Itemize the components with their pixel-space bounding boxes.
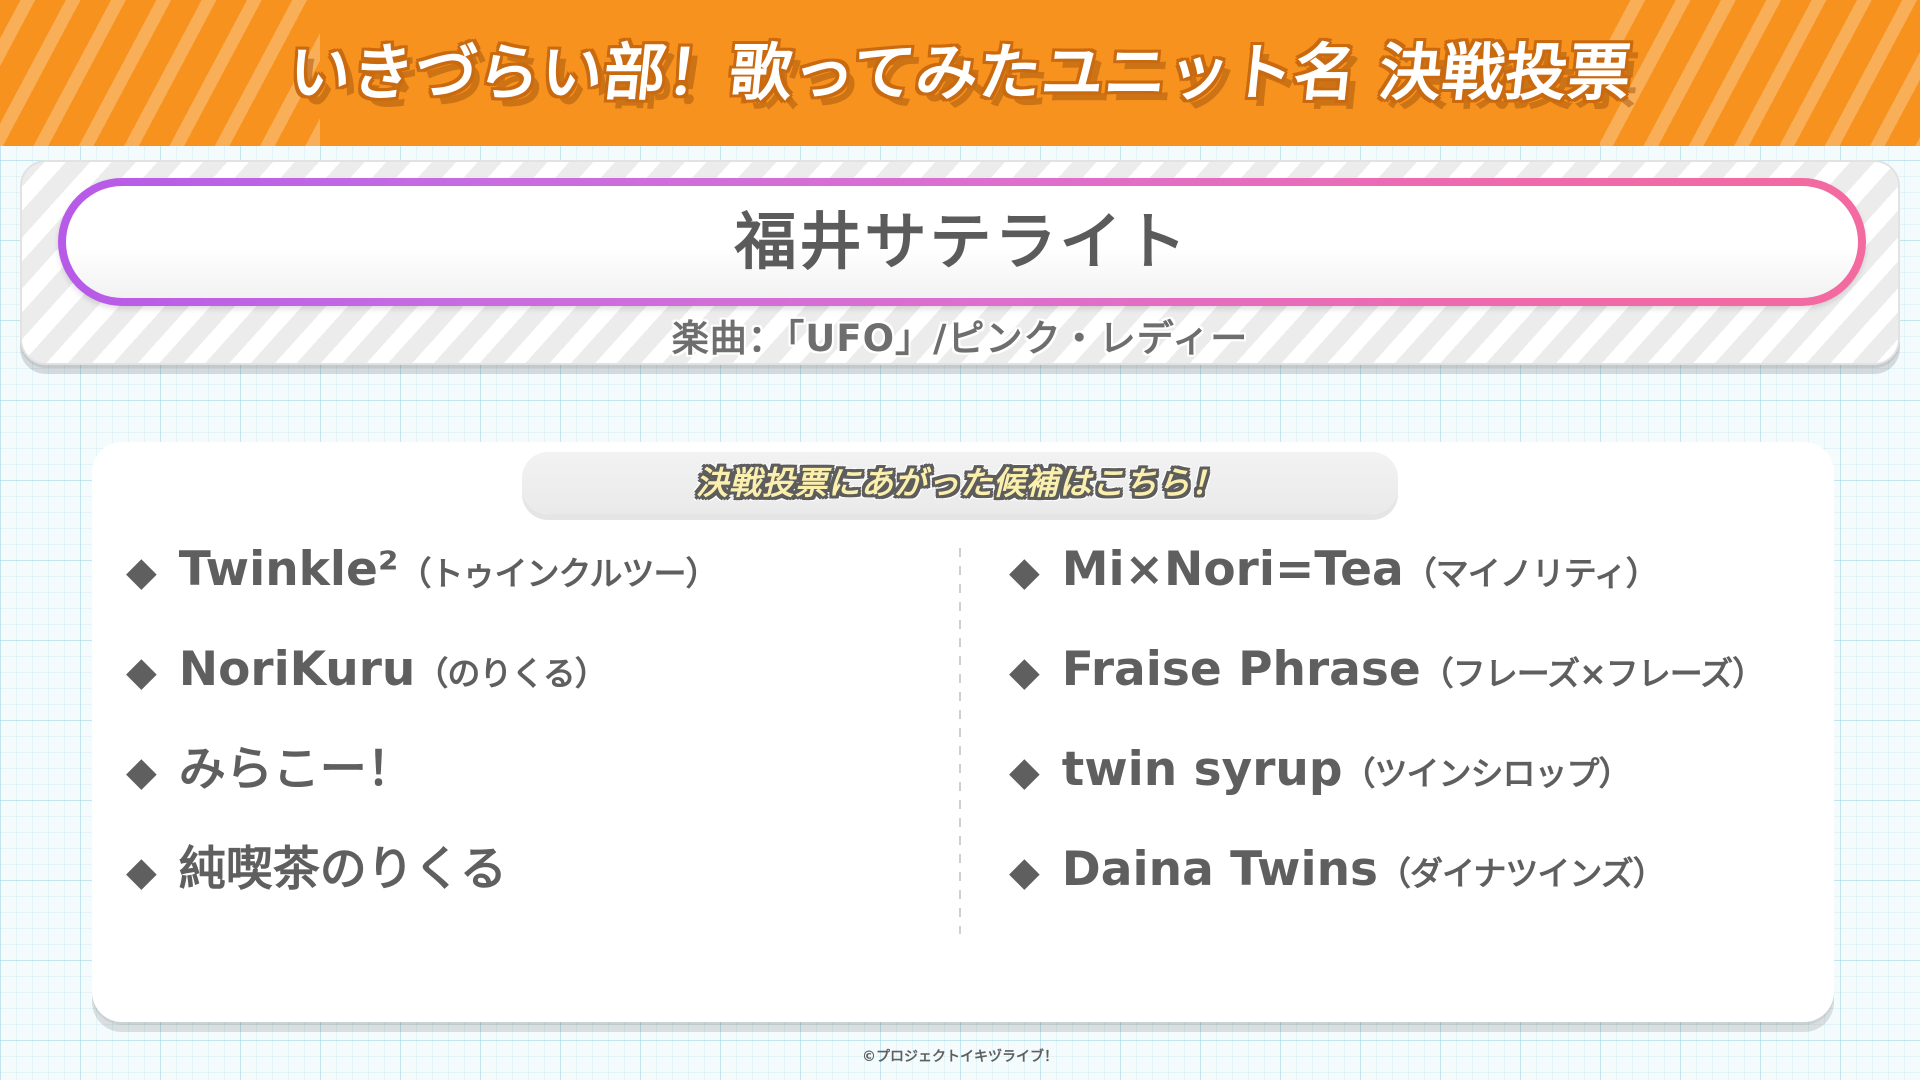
diamond-icon: ◆ — [126, 752, 157, 792]
candidate-reading: （マイノリティ） — [1404, 557, 1658, 590]
song-line: 楽曲：「UFO」/ピンク・レディー — [22, 312, 1898, 364]
candidate-reading: （トゥインクルツー） — [398, 557, 717, 590]
header-stripes-left — [0, 0, 320, 146]
candidate-name: Mi×Nori=Tea — [1062, 546, 1404, 593]
candidate-reading: （のりくる） — [415, 657, 606, 690]
candidates-columns: ◆ Twinkle² （トゥインクルツー） ◆ NoriKuru （のりくる） … — [92, 538, 1834, 986]
candidate-name: twin syrup — [1062, 746, 1343, 793]
candidate-item[interactable]: ◆ Fraise Phrase （フレーズ×フレーズ） — [1009, 646, 1834, 746]
footer: ©プロジェクトイキヅライブ！ — [0, 1046, 1920, 1066]
candidate-name: Daina Twins — [1062, 846, 1378, 893]
candidate-item[interactable]: ◆ twin syrup （ツインシロップ） — [1009, 746, 1834, 846]
candidate-name: みらこー！ — [179, 746, 414, 793]
diamond-icon: ◆ — [1009, 652, 1040, 692]
candidate-reading: （ツインシロップ） — [1342, 757, 1630, 790]
candidate-item[interactable]: ◆ Twinkle² （トゥインクルツー） — [126, 546, 963, 646]
diamond-icon: ◆ — [1009, 752, 1040, 792]
candidate-item[interactable]: ◆ みらこー！ — [126, 746, 963, 846]
diamond-icon: ◆ — [126, 852, 157, 892]
diamond-icon: ◆ — [126, 652, 157, 692]
candidate-item[interactable]: ◆ Mi×Nori=Tea （マイノリティ） — [1009, 546, 1834, 646]
header-banner: いきづらい部！歌ってみたユニット名 決戦投票 — [0, 0, 1920, 146]
candidate-name: NoriKuru — [179, 646, 416, 693]
song-label: 楽曲：「UFO」/ピンク・レディー — [672, 320, 1248, 357]
candidates-banner: 決戦投票にあがった候補はこちら！ — [522, 452, 1398, 514]
header-stripes-right — [1600, 0, 1920, 146]
unit-title-pill: 福井サテライト — [58, 178, 1866, 306]
candidate-name: Twinkle² — [179, 546, 399, 593]
unit-title-pill-inner: 福井サテライト — [66, 186, 1858, 298]
candidate-name: Fraise Phrase — [1062, 646, 1421, 693]
candidate-reading: （フレーズ×フレーズ） — [1421, 657, 1764, 690]
candidates-banner-label: 決戦投票にあがった候補はこちら！ — [696, 467, 1224, 499]
diamond-icon: ◆ — [1009, 852, 1040, 892]
candidate-item[interactable]: ◆ NoriKuru （のりくる） — [126, 646, 963, 746]
header-title: いきづらい部！歌ってみたユニット名 決戦投票 — [285, 42, 1634, 104]
diamond-icon: ◆ — [1009, 552, 1040, 592]
copyright-text: ©プロジェクトイキヅライブ！ — [862, 1049, 1058, 1065]
diamond-icon: ◆ — [126, 552, 157, 592]
candidate-item[interactable]: ◆ Daina Twins （ダイナツインズ） — [1009, 846, 1834, 946]
candidate-reading: （ダイナツインズ） — [1378, 857, 1665, 890]
candidates-card: ◆ Twinkle² （トゥインクルツー） ◆ NoriKuru （のりくる） … — [92, 442, 1834, 1022]
slide-root: いきづらい部！歌ってみたユニット名 決戦投票 福井サテライト 楽曲：「UFO」/… — [0, 0, 1920, 1080]
candidates-column-right: ◆ Mi×Nori=Tea （マイノリティ） ◆ Fraise Phrase （… — [963, 538, 1834, 986]
column-divider — [959, 548, 961, 934]
candidate-item[interactable]: ◆ 純喫茶のりくる — [126, 846, 963, 946]
candidates-column-left: ◆ Twinkle² （トゥインクルツー） ◆ NoriKuru （のりくる） … — [92, 538, 963, 986]
unit-panel: 福井サテライト 楽曲：「UFO」/ピンク・レディー — [20, 160, 1900, 365]
unit-name: 福井サテライト — [734, 211, 1189, 273]
candidate-name: 純喫茶のりくる — [179, 846, 507, 893]
